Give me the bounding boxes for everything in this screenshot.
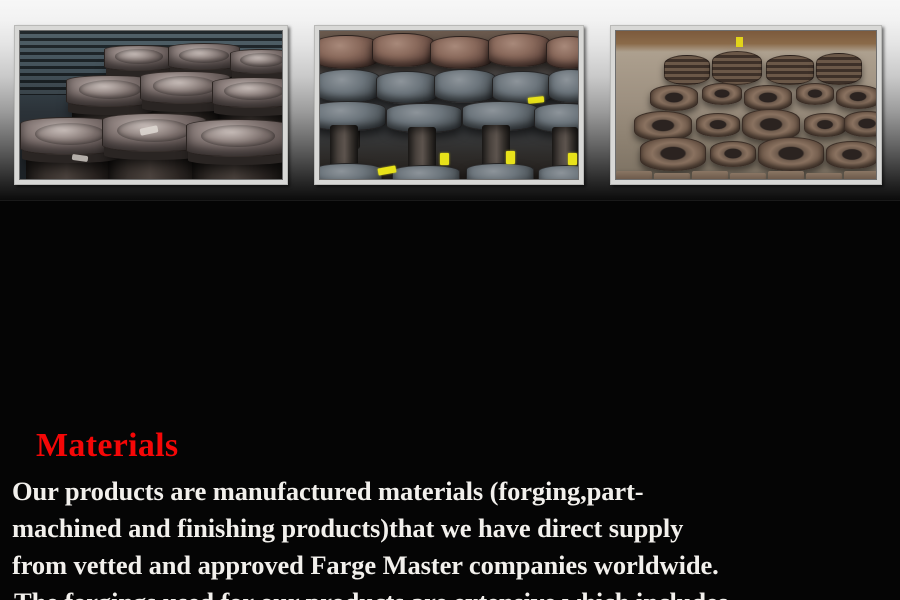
- body-line-4: The forgings used for our products are e…: [0, 584, 900, 600]
- product-photo-cylindrical-forgings: [19, 30, 283, 180]
- product-photo-t-head-forgings: [319, 30, 579, 180]
- materials-body-copy: Our products are manufactured materials …: [0, 473, 900, 600]
- photo-frame-3[interactable]: [610, 25, 882, 185]
- product-photo-ring-forgings: [615, 30, 877, 180]
- materials-text-panel: Materials Our products are manufactured …: [0, 200, 900, 600]
- photo-frame-2[interactable]: [314, 25, 584, 185]
- photo-frame-1[interactable]: [14, 25, 288, 185]
- body-line-3: from vetted and approved Farge Master co…: [0, 547, 900, 584]
- body-line-1: Our products are manufactured materials …: [0, 473, 900, 510]
- photo-gallery-band: [0, 0, 900, 202]
- materials-heading: Materials: [36, 427, 178, 465]
- slide-root: Materials Our products are manufactured …: [0, 0, 900, 600]
- body-line-2: machined and finishing products)that we …: [0, 510, 900, 547]
